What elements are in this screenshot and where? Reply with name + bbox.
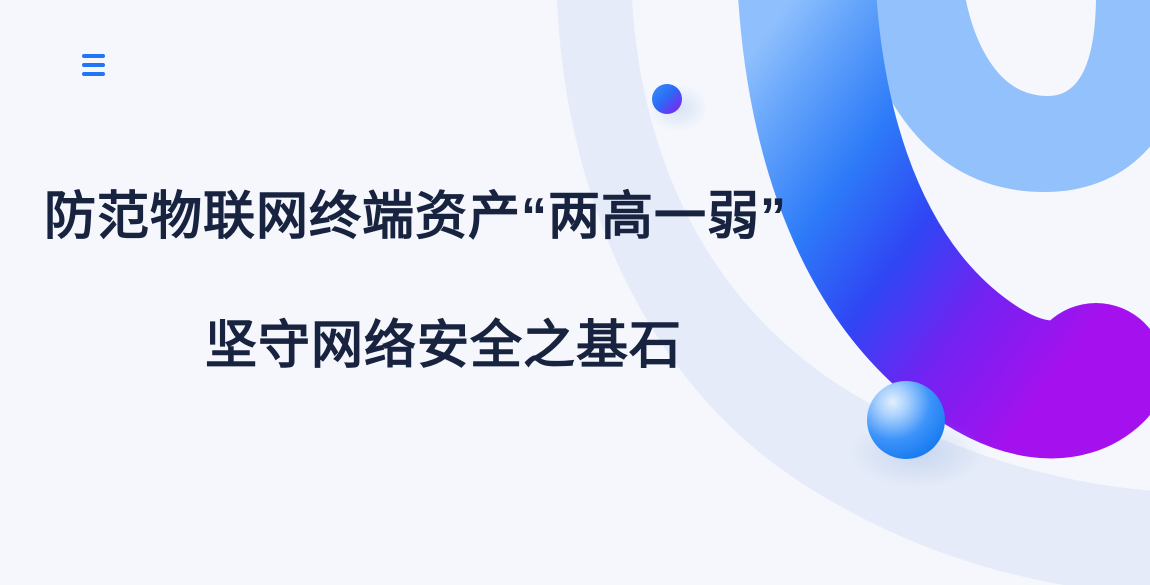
slide-title-block: 防范物联网终端资产“两高一弱” 坚守网络安全之基石 bbox=[0, 190, 880, 373]
presentation-slide: 防范物联网终端资产“两高一弱” 坚守网络安全之基石 bbox=[0, 0, 1150, 585]
hamburger-menu-icon-bar-2 bbox=[82, 63, 105, 67]
hamburger-menu-icon-bar-3 bbox=[82, 72, 105, 76]
large-blue-sphere bbox=[850, 381, 986, 488]
small-gradient-sphere bbox=[648, 84, 708, 132]
hamburger-menu-icon-bar-1 bbox=[82, 54, 105, 58]
slide-title-line-1: 防范物联网终端资产“两高一弱” bbox=[44, 190, 880, 245]
hamburger-menu-button[interactable] bbox=[82, 48, 116, 82]
slide-title-line-2: 坚守网络安全之基石 bbox=[205, 319, 880, 374]
light-blue-arc bbox=[852, 0, 1150, 192]
